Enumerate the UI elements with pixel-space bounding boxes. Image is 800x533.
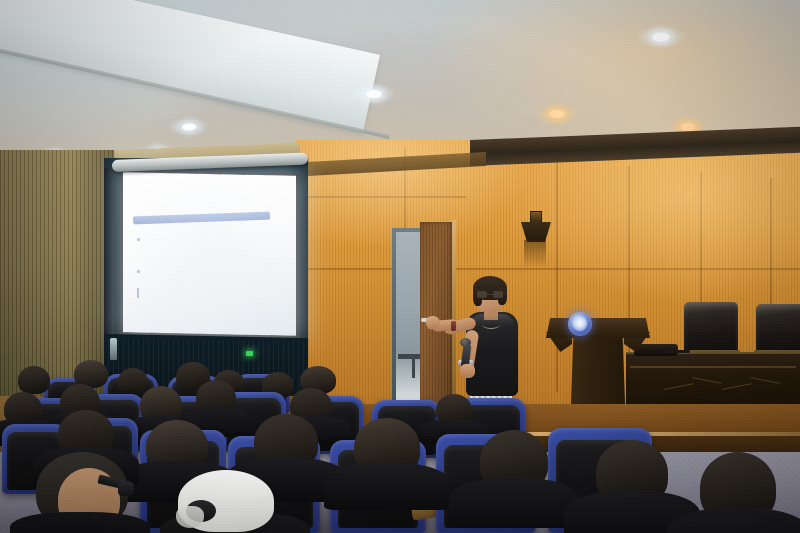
slide-faint-line-2 (137, 270, 140, 273)
auditorium-photo (0, 0, 800, 533)
downlight-4-icon (635, 23, 686, 50)
slide-faint-line-3 (137, 288, 139, 298)
presenter-bracelet (451, 321, 456, 331)
slide-faint-line-1 (137, 238, 140, 241)
attendee-glasses-lens (118, 482, 134, 496)
attendee-f4-shoulders (449, 478, 578, 528)
institutional-seal-center (573, 317, 587, 331)
light-core (182, 123, 196, 130)
cap-brim (176, 506, 204, 528)
corridor-furniture (398, 354, 422, 359)
podium-top (546, 318, 650, 338)
stage-chair-1 (684, 302, 738, 354)
light-core (366, 90, 381, 98)
door-outer-edge (452, 220, 456, 412)
corridor-furniture-leg (412, 358, 415, 378)
downlight-2-icon (168, 116, 210, 137)
attendee-glasses-shoulders (10, 512, 150, 533)
attendee-b3-hair (118, 368, 148, 394)
presenter-right-hand (460, 364, 475, 378)
stage-chair-2 (756, 304, 800, 356)
attendee-b1-hair (18, 366, 50, 394)
table-cable (660, 350, 690, 353)
light-core (681, 123, 695, 131)
wall-speaker-shadow (524, 240, 546, 268)
light-core (549, 110, 564, 118)
attendee-f3-shoulders (324, 463, 449, 509)
downlight-6-icon (534, 102, 579, 126)
microphone-head (460, 338, 471, 347)
head-table-moulding-1 (630, 366, 796, 368)
presenter-necklace (482, 320, 500, 329)
water-bottle (110, 338, 117, 360)
power-led-indicator (246, 351, 253, 356)
light-core (652, 32, 669, 41)
presenter-glasses-icon (477, 291, 503, 298)
downlight-3-icon (351, 82, 396, 106)
speaker-mount-bracket (530, 211, 542, 223)
projection-screen-surface (123, 172, 296, 336)
